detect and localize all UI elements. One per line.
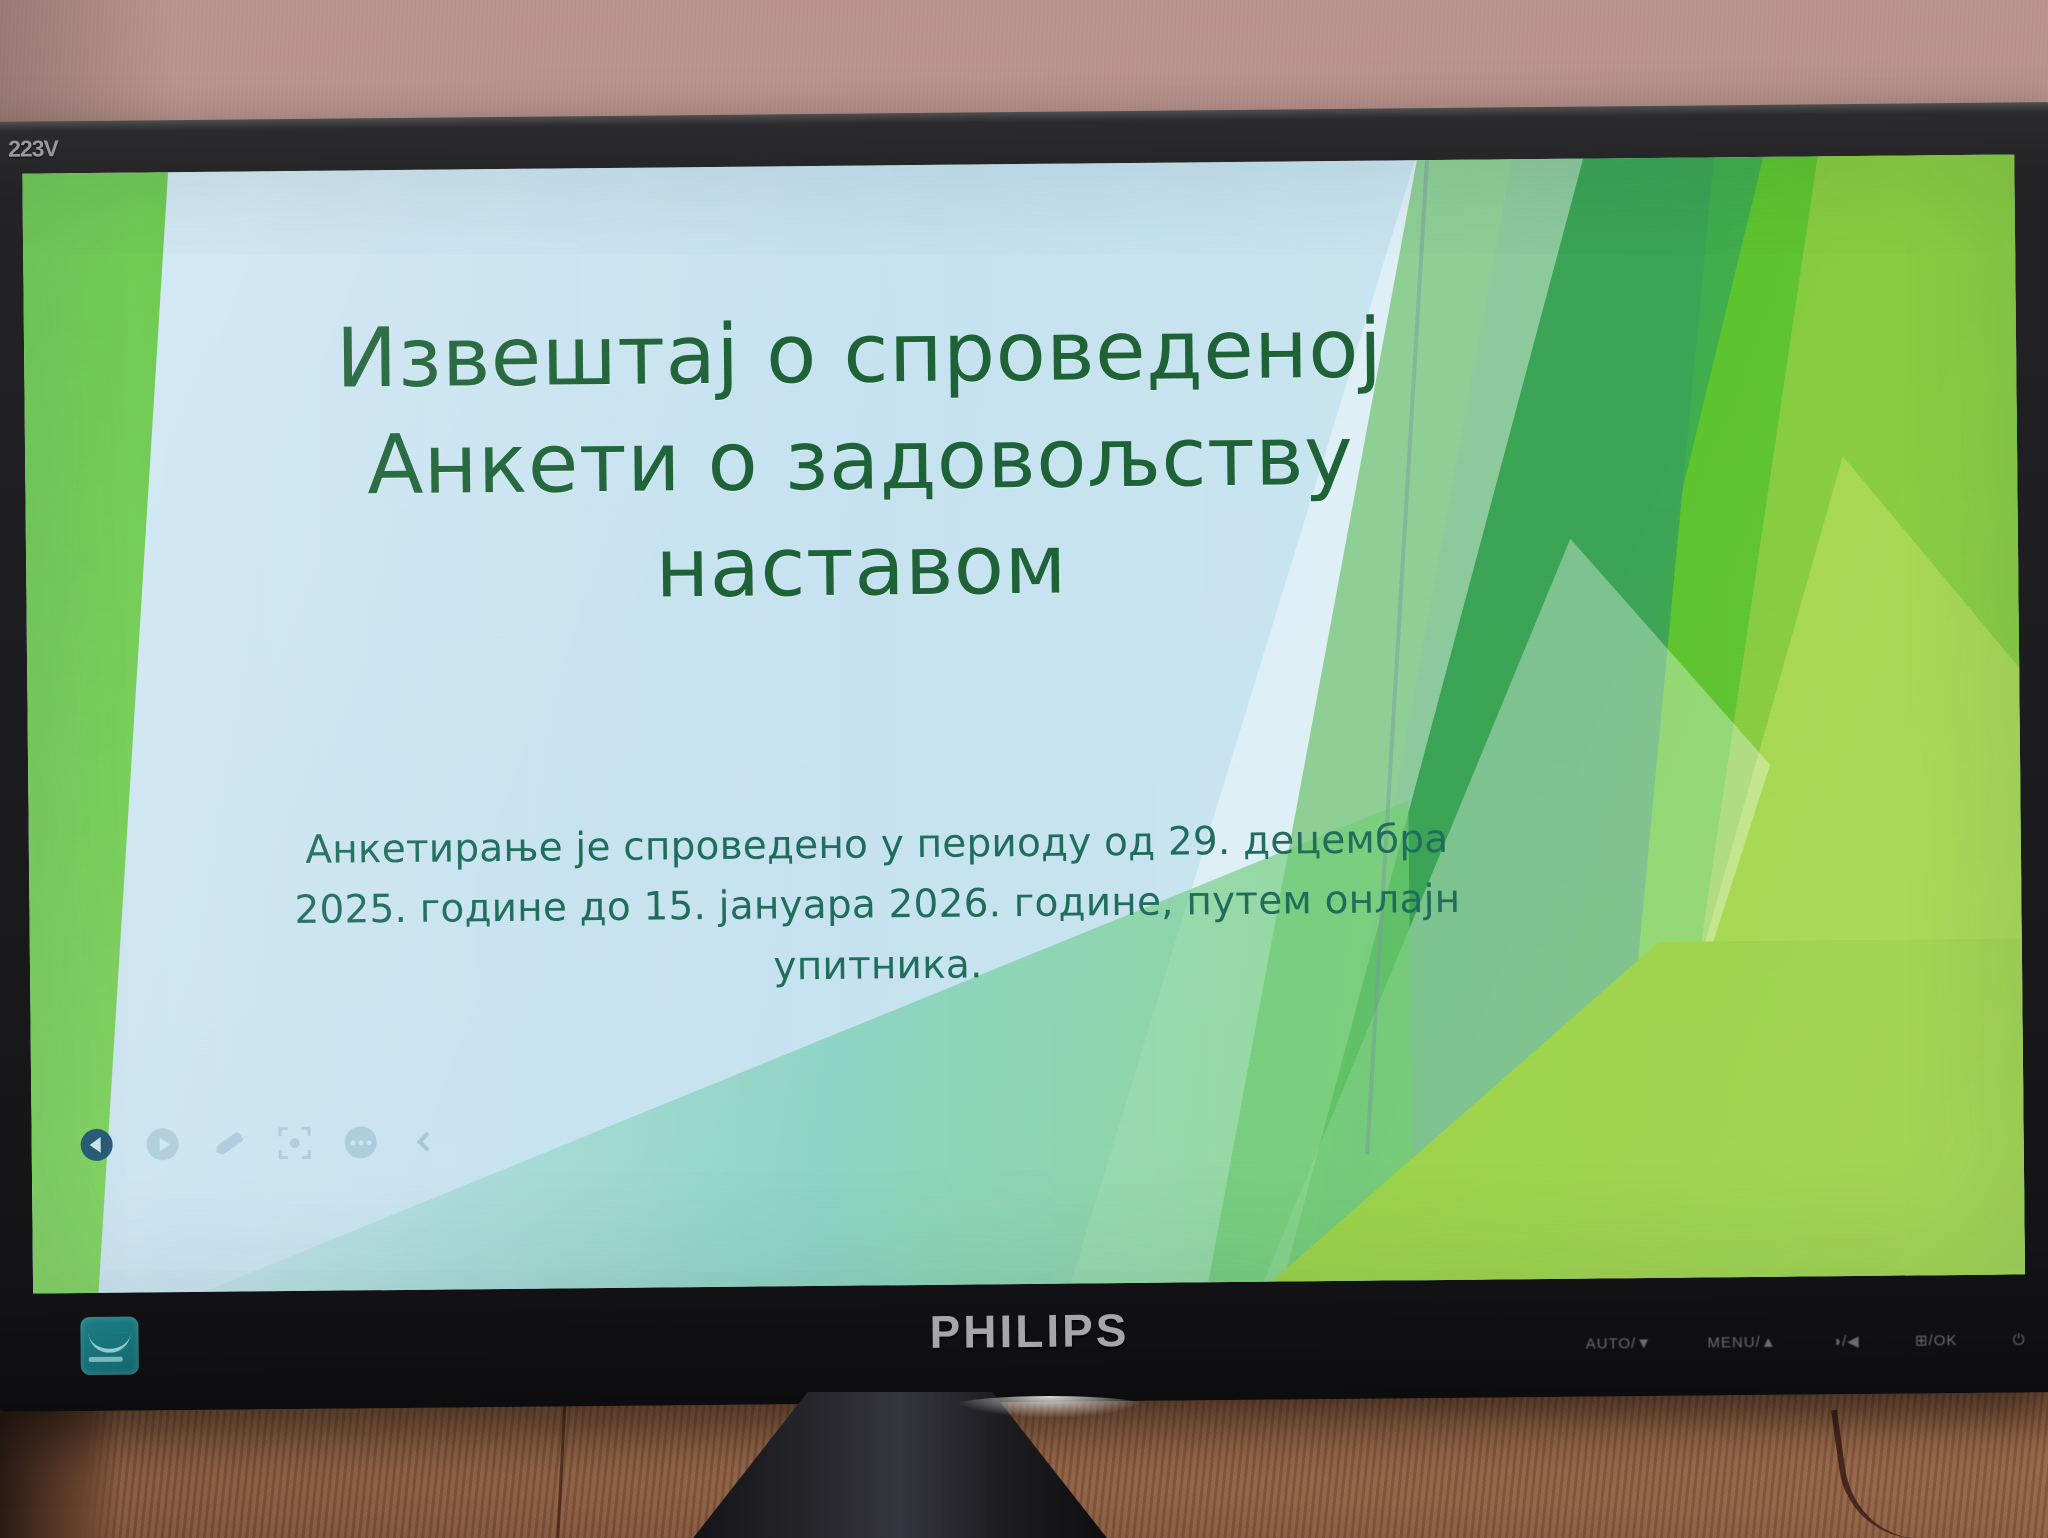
powerpoint-slide: Извештај о спроведеној Анкети о задовољс… bbox=[22, 154, 2025, 1293]
monitor-model-label: 223V bbox=[8, 135, 58, 162]
osd-button-power[interactable]: ⏻ bbox=[2013, 1331, 2026, 1348]
triangle-left-icon bbox=[81, 1129, 113, 1161]
osd-button-ok[interactable]: ⊞/OK bbox=[1915, 1331, 1958, 1349]
desk-shadow-left bbox=[0, 1392, 120, 1538]
sticker-wave-graphic bbox=[88, 1333, 130, 1353]
triangle-right-icon bbox=[147, 1128, 179, 1160]
pen-icon bbox=[213, 1131, 244, 1157]
ellipsis-icon bbox=[345, 1126, 377, 1158]
zoom-into-slide-button[interactable] bbox=[278, 1126, 312, 1160]
sticker-bar-graphic bbox=[89, 1357, 123, 1362]
monitor-screen: Извештај о спроведеној Анкети о задовољс… bbox=[22, 154, 2025, 1293]
philips-brand-logo: PHILIPS bbox=[0, 1294, 2048, 1368]
facet-shape-left-green bbox=[22, 168, 179, 1293]
monitor-stand-highlight bbox=[950, 1396, 1150, 1418]
monitor-osd-buttons[interactable]: AUTO/▼ MENU/▲ ◑/◀ ⊞/OK ⏻ bbox=[1586, 1330, 2026, 1352]
slide-title-line-3: наставом bbox=[256, 509, 1467, 627]
pen-tool-button[interactable] bbox=[212, 1126, 246, 1160]
slide-subtitle: Анкетирање је спроведено у периоду од 29… bbox=[287, 810, 1469, 1003]
slide-subtitle-line-1: Анкетирање је спроведено у периоду од 29… bbox=[287, 810, 1468, 882]
slide-subtitle-line-2: 2025. године до 15. јануара 2026. године… bbox=[287, 870, 1468, 942]
slide-title: Извештај о спроведеној Анкети о задовољс… bbox=[254, 296, 1467, 627]
slideshow-control-bar[interactable] bbox=[80, 1125, 444, 1162]
next-slide-button[interactable] bbox=[146, 1127, 180, 1161]
monitor-bezel: 223V PHILIPS AUTO/▼ MENU/▲ ◑/◀ ⊞/OK ⏻ bbox=[0, 102, 2048, 1412]
previous-slide-button[interactable] bbox=[80, 1128, 114, 1162]
slide-title-line-1: Извештај о спроведеној bbox=[254, 296, 1465, 414]
slide-title-line-2: Анкети о задовољству bbox=[255, 402, 1466, 520]
more-options-button[interactable] bbox=[344, 1125, 378, 1159]
zoom-target-icon bbox=[279, 1127, 311, 1159]
slide-subtitle-line-3: упитника. bbox=[288, 931, 1469, 1003]
philips-monitor: 223V PHILIPS AUTO/▼ MENU/▲ ◑/◀ ⊞/OK ⏻ bbox=[0, 102, 2048, 1412]
collapse-toolbar-button[interactable] bbox=[410, 1125, 444, 1159]
osd-button-auto[interactable]: AUTO/▼ bbox=[1586, 1334, 1653, 1352]
energy-star-sticker bbox=[80, 1317, 139, 1376]
osd-button-brightness[interactable]: ◑/◀ bbox=[1832, 1332, 1860, 1350]
chevron-left-icon bbox=[417, 1132, 437, 1152]
osd-button-menu[interactable]: MENU/▲ bbox=[1707, 1333, 1776, 1351]
